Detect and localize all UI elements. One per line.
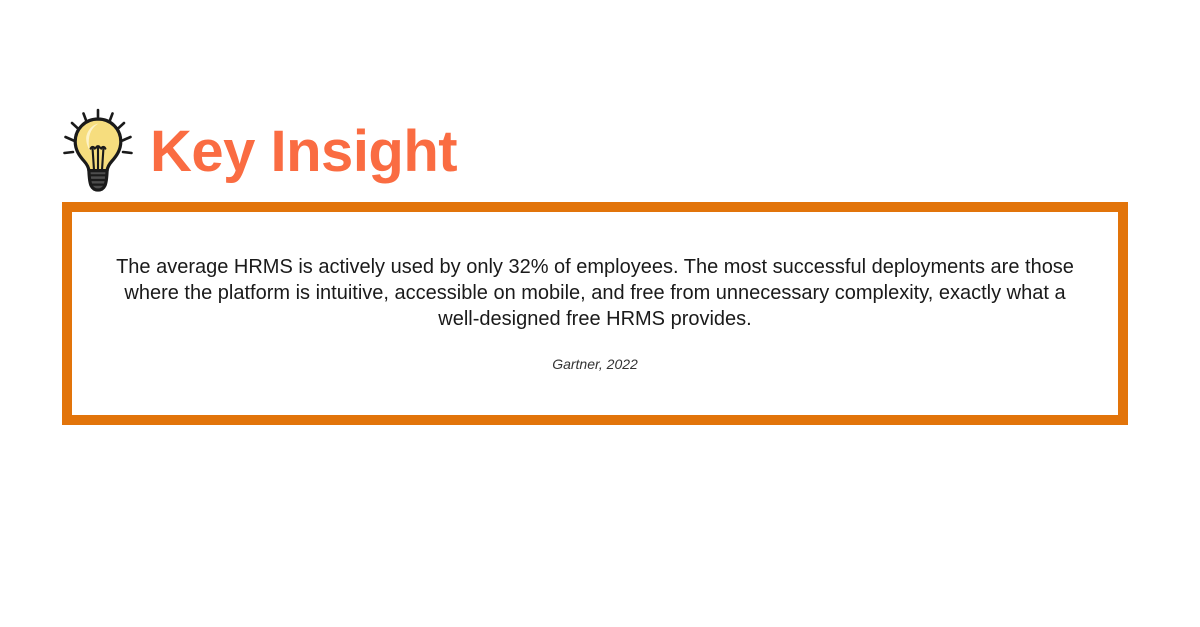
key-insight-callout: The average HRMS is actively used by onl…: [62, 202, 1128, 425]
header: Key Insight: [62, 104, 457, 196]
callout-body-text: The average HRMS is actively used by onl…: [105, 254, 1085, 332]
light-bulb-icon: [62, 108, 134, 192]
key-insight-slide: Key Insight The average HRMS is actively…: [0, 0, 1200, 627]
callout-source-attribution: Gartner, 2022: [105, 355, 1085, 373]
callout-content: The average HRMS is actively used by onl…: [105, 254, 1085, 373]
page-title: Key Insight: [150, 123, 457, 181]
